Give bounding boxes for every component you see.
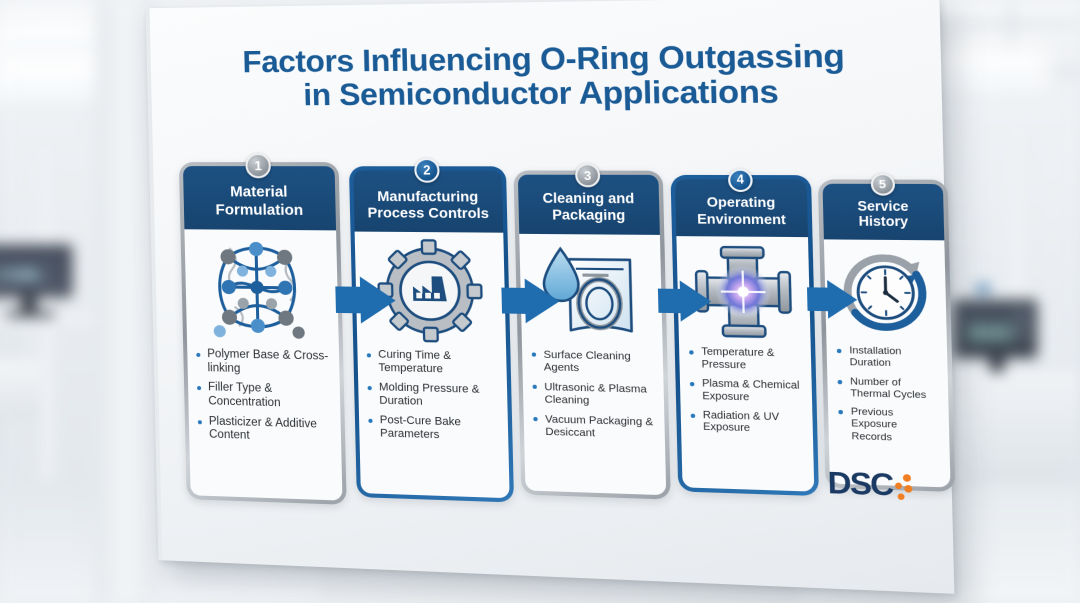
flow-arrow-2 (501, 278, 560, 324)
list-item: Previous Exposure Records (838, 406, 939, 445)
step-badge-1: 1 (245, 153, 271, 178)
panel-title-line2: History (858, 214, 909, 230)
panel-title-line2: Packaging (543, 207, 635, 224)
panel-operating-environment[interactable]: 4 Operating Environment (670, 175, 818, 496)
step-badge-4: 4 (728, 169, 753, 192)
page-title: Factors Influencing O-Ring Outgassing in… (218, 38, 873, 113)
panel-items-2: Curing Time & Temperature Molding Pressu… (357, 348, 508, 445)
panel-items-5: Installation Duration Number of Thermal … (826, 344, 949, 445)
list-item: Surface Cleaning Agents (532, 348, 654, 377)
panel-material-formulation[interactable]: 1 Material Formulation (179, 162, 347, 505)
list-item: Polymer Base & Cross-linking (196, 348, 330, 379)
flow-arrow-1 (335, 276, 396, 324)
step-badge-2: 2 (414, 158, 440, 183)
presentation-board-wrapper: Factors Influencing O-Ring Outgassing in… (0, 0, 1080, 603)
panel-manufacturing-process-controls[interactable]: 2 Manufacturing Process Controls (349, 166, 514, 502)
list-item: Number of Thermal Cycles (837, 375, 937, 402)
list-item: Curing Time & Temperature (367, 348, 498, 378)
list-item: Radiation & UV Exposure (691, 409, 803, 437)
panel-title-line1: Cleaning and (542, 191, 634, 208)
list-item: Installation Duration (837, 345, 937, 371)
process-flow: 1 Material Formulation (179, 147, 939, 537)
list-item: Molding Pressure & Duration (367, 381, 498, 411)
title-line-2: in Semiconductor Applications (219, 74, 873, 113)
dsc-logo: DSC (827, 469, 914, 503)
step-number: 5 (879, 178, 886, 191)
panel-title-line1: Material (215, 183, 303, 201)
list-item: Plasticizer & Additive Content (198, 415, 332, 446)
list-item: Filler Type & Concentration (197, 381, 331, 412)
panel-title-line2: Process Controls (367, 204, 489, 221)
list-item: Ultrasonic & Plasma Cleaning (532, 380, 654, 409)
panel-cleaning-and-packaging[interactable]: 3 Cleaning and Packaging (513, 171, 670, 500)
polymer-network-icon (184, 229, 338, 350)
step-badge-5: 5 (870, 173, 895, 196)
panel-title-line1: Service (857, 198, 908, 214)
panel-title-line2: Environment (697, 210, 786, 227)
step-badge-3: 3 (575, 163, 600, 187)
panel-title-line1: Operating (697, 194, 786, 210)
list-item: Post-Cure Bake Parameters (368, 414, 499, 445)
panel-title-line1: Manufacturing (367, 187, 489, 204)
flow-arrow-3 (658, 280, 712, 322)
panel-items-1: Polymer Base & Cross-linking Filler Type… (187, 348, 341, 447)
list-item: Temperature & Pressure (689, 346, 801, 373)
four-orange-dots-icon (894, 472, 914, 501)
panel-service-history[interactable]: 5 Service History (818, 179, 955, 492)
infographic-board: Factors Influencing O-Ring Outgassing in… (146, 0, 955, 594)
step-number: 3 (584, 168, 592, 183)
flow-arrow-4 (807, 280, 858, 319)
list-item: Plasma & Chemical Exposure (690, 378, 802, 406)
panel-items-4: Temperature & Pressure Plasma & Chemical… (679, 346, 813, 438)
step-number: 2 (423, 163, 431, 177)
panel-items-3: Surface Cleaning Agents Ultrasonic & Pla… (522, 348, 665, 442)
logo-text: DSC (827, 469, 893, 502)
step-number: 1 (254, 158, 262, 173)
panel-title-line2: Formulation (215, 201, 303, 219)
step-number: 4 (737, 174, 744, 187)
list-item: Vacuum Packaging & Desiccant (533, 413, 655, 442)
